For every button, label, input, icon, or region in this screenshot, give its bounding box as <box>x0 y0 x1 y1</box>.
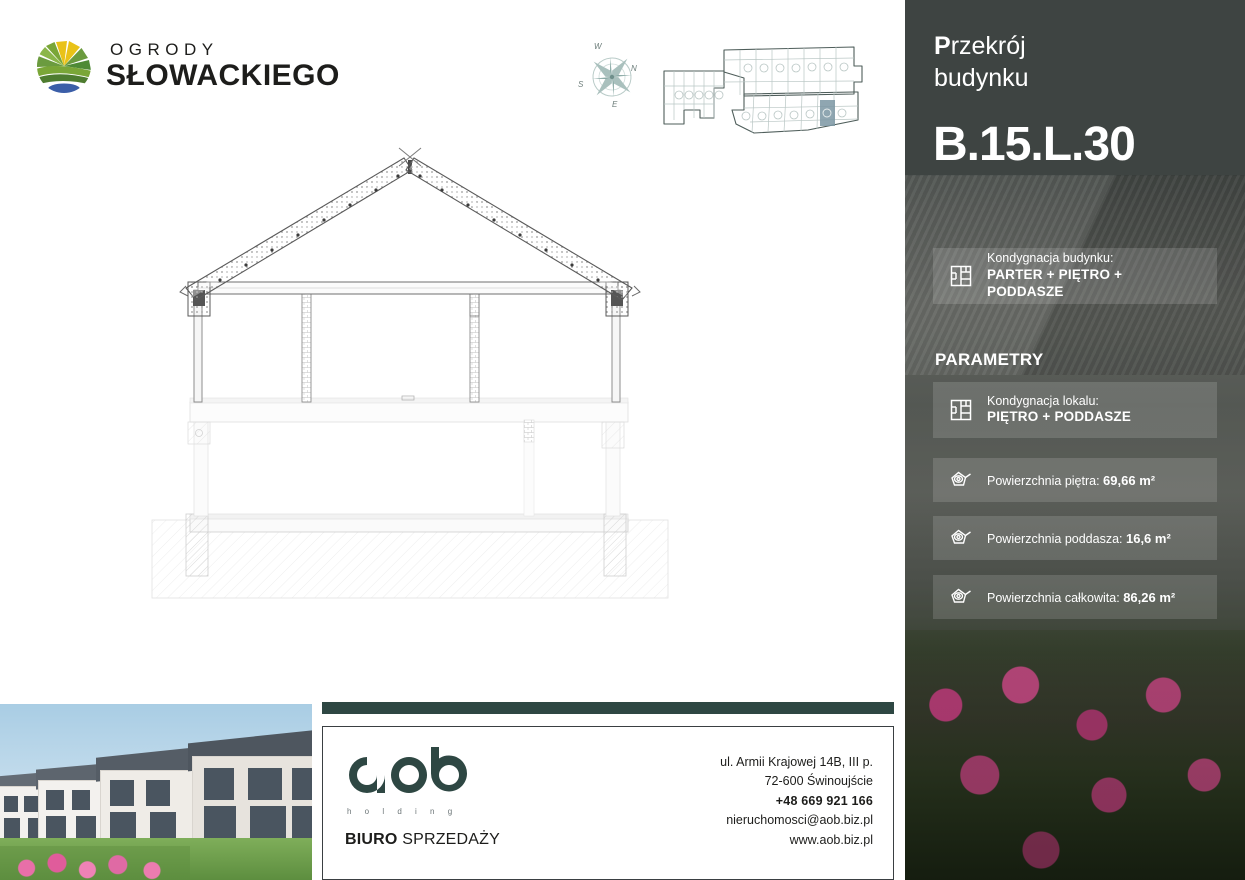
unit-floors-texts: Kondygnacja lokalu: PIĘTRO + PODDASZE <box>987 394 1131 427</box>
footer-divider-bar <box>322 702 894 714</box>
photo-flowers <box>0 846 190 880</box>
area-attic-value: 16,6 m² <box>1126 531 1171 546</box>
area-total-label: Powierzchnia całkowita: <box>987 591 1120 605</box>
site-plan-highlighted-unit <box>820 100 835 126</box>
parameters-heading: PARAMETRY <box>935 350 1043 370</box>
area-attic-text: Powierzchnia poddasza: 16,6 m² <box>987 531 1171 546</box>
area-attic-label: Powierzchnia poddasza: <box>987 532 1123 546</box>
compass-label-north: W <box>594 42 602 51</box>
area-measure-icon <box>949 585 973 609</box>
footer-contact-box: h o l d i n g BIURO SPRZEDAŻY ul. Armii … <box>322 726 894 880</box>
compass-rose-icon: W N S E <box>578 42 646 112</box>
area-row-total: Powierzchnia całkowita: 86,26 m² <box>933 575 1217 619</box>
brand-line-slowackiego: SŁOWACKIEGO <box>106 61 340 91</box>
contact-address-line1: ul. Armii Krajowej 14B, III p. <box>720 753 873 772</box>
compass-label-east: N <box>631 64 637 73</box>
panel-content: Przekrój budynku B.15.L.30 <box>905 0 1245 880</box>
document-page: OGRODY SŁOWACKIEGO <box>0 0 1245 880</box>
brand-line-ogrody: OGRODY <box>106 41 340 58</box>
sales-office-bold: BIURO <box>345 831 398 848</box>
unit-floors-label: Kondygnacja lokalu: <box>987 394 1131 410</box>
building-floors-texts: Kondygnacja budynku: PARTER + PIĘTRO + P… <box>987 251 1201 300</box>
building-floors-row: Kondygnacja budynku: PARTER + PIĘTRO + P… <box>933 248 1217 304</box>
area-row-floor: Powierzchnia piętra: 69,66 m² <box>933 458 1217 502</box>
building-cross-section-drawing <box>150 140 670 600</box>
contact-address-line2: 72-600 Świnoujście <box>720 772 873 791</box>
contact-details: ul. Armii Krajowej 14B, III p. 72-600 Św… <box>720 753 873 850</box>
area-floor-value: 69,66 m² <box>1103 473 1155 488</box>
panel-title-rest: rzekrój <box>951 32 1026 60</box>
aob-logo-subtitle: h o l d i n g <box>347 807 458 816</box>
unit-code: B.15.L.30 <box>933 117 1135 172</box>
compass-label-west: S <box>578 80 583 89</box>
site-plan-icon[interactable] <box>658 38 870 146</box>
aob-logo-icon <box>345 747 475 803</box>
panel-title: Przekrój budynku <box>934 30 1029 94</box>
contact-phone[interactable]: +48 669 921 166 <box>720 792 873 811</box>
brand-logo: OGRODY SŁOWACKIEGO <box>36 38 340 94</box>
development-render-photo <box>0 704 312 880</box>
contact-website[interactable]: www.aob.biz.pl <box>720 831 873 850</box>
info-panel: Przekrój budynku B.15.L.30 <box>905 0 1245 880</box>
main-area: OGRODY SŁOWACKIEGO <box>0 0 905 880</box>
sales-office-rest: SPRZEDAŻY <box>398 831 500 848</box>
area-floor-text: Powierzchnia piętra: 69,66 m² <box>987 473 1155 488</box>
area-total-text: Powierzchnia całkowita: 86,26 m² <box>987 590 1175 605</box>
area-row-attic: Powierzchnia poddasza: 16,6 m² <box>933 516 1217 560</box>
building-floors-label: Kondygnacja budynku: <box>987 251 1201 267</box>
floor-plan-icon <box>949 398 973 422</box>
area-total-value: 86,26 m² <box>1123 590 1175 605</box>
garden-sun-logo-icon <box>36 38 92 94</box>
photo-house-row <box>0 722 312 842</box>
area-floor-label: Powierzchnia piętra: <box>987 474 1100 488</box>
floor-plan-icon <box>949 264 973 288</box>
brand-wordmark: OGRODY SŁOWACKIEGO <box>106 41 340 91</box>
compass-label-south: E <box>612 100 617 109</box>
sales-office-label: BIURO SPRZEDAŻY <box>345 831 500 849</box>
contact-email[interactable]: nieruchomosci@aob.biz.pl <box>720 811 873 830</box>
panel-title-initial: P <box>934 32 951 60</box>
panel-title-line2: budynku <box>934 62 1029 94</box>
area-measure-icon <box>949 468 973 492</box>
unit-floors-row: Kondygnacja lokalu: PIĘTRO + PODDASZE <box>933 382 1217 438</box>
building-floors-value: PARTER + PIĘTRO + PODDASZE <box>987 267 1201 301</box>
area-measure-icon <box>949 526 973 550</box>
unit-floors-value: PIĘTRO + PODDASZE <box>987 409 1131 426</box>
